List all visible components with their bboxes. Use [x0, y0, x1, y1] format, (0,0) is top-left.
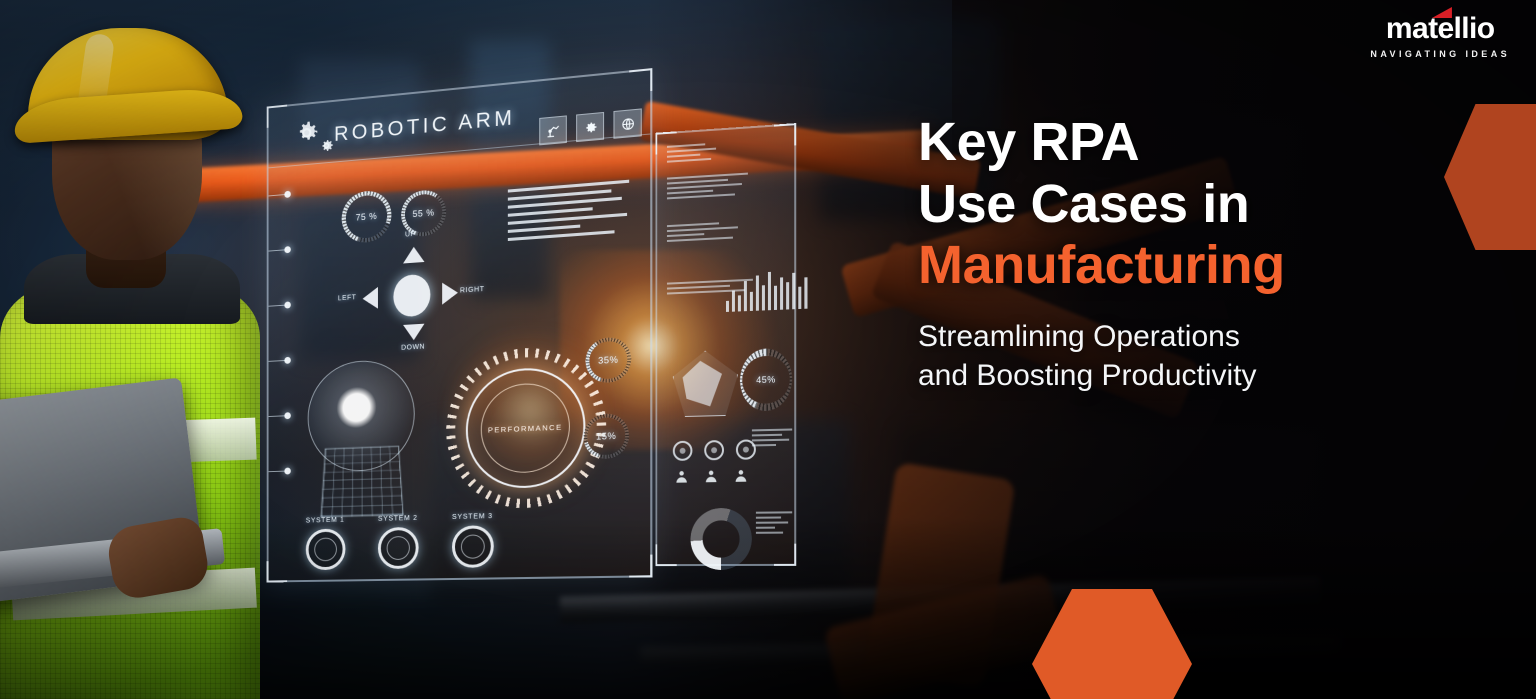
hud-tick-marks — [269, 194, 288, 527]
radar-grid — [320, 446, 403, 518]
dpad-label-down: DOWN — [401, 344, 425, 352]
panel-corner — [655, 131, 676, 154]
panel-corner — [267, 105, 287, 128]
subheadline-line-1: Streamlining Operations — [918, 317, 1478, 357]
hud-data-bars — [508, 180, 629, 246]
system-ring[interactable] — [452, 525, 494, 568]
chevron-right-icon[interactable] — [442, 282, 458, 305]
mini-ring-row — [673, 439, 756, 461]
headline-block: Key RPA Use Cases in Manufacturing Strea… — [918, 112, 1478, 396]
system-item[interactable]: SYSTEM 3 — [452, 513, 498, 568]
subheadline-line-2: and Boosting Productivity — [918, 356, 1478, 396]
chevron-up-icon[interactable] — [403, 246, 424, 263]
panel-corner — [267, 561, 287, 583]
gauge-value: 15% — [583, 413, 629, 460]
gauge-15: 15% — [583, 413, 629, 460]
dpad-center-button[interactable] — [393, 274, 430, 318]
headline-line-3-accent: Manufacturing — [918, 235, 1478, 297]
system-ring[interactable] — [306, 528, 346, 570]
panel-corner — [774, 123, 796, 147]
gauge-45: 45% — [740, 348, 792, 412]
gauge-35: 35% — [585, 336, 631, 384]
factory-worker — [0, 22, 290, 699]
dpad-label-right: RIGHT — [460, 286, 485, 295]
subheadline: Streamlining Operations and Boosting Pro… — [918, 317, 1478, 396]
performance-dial[interactable]: PERFORMANCE — [466, 365, 586, 489]
gauge-value: 45% — [740, 348, 792, 412]
mini-ring — [673, 441, 693, 461]
logo-wordmark: matellio — [1386, 14, 1495, 44]
robot-arm-icon[interactable] — [539, 115, 567, 145]
system-item[interactable]: SYSTEM 1 — [306, 517, 349, 571]
panel-corner — [629, 555, 652, 578]
chevron-down-icon[interactable] — [403, 324, 424, 341]
gauge-75: 75 % — [342, 189, 392, 244]
donut-chart — [690, 508, 751, 570]
bar-chart — [726, 246, 807, 312]
chevron-left-icon[interactable] — [363, 287, 378, 310]
hud-text-block — [667, 172, 752, 202]
performance-dial-label: PERFORMANCE — [468, 368, 583, 488]
people-icon-row — [673, 468, 750, 485]
dpad-label-left: LEFT — [338, 294, 357, 302]
gauge-value: 35% — [585, 336, 631, 384]
hud-text-block — [667, 221, 746, 245]
banner-root: ROBOTIC ARM — [0, 0, 1536, 699]
panel-corner — [629, 68, 652, 93]
brand-logo[interactable]: matellio NAVIGATING IDEAS — [1370, 14, 1510, 59]
panel-corner — [655, 544, 676, 566]
mini-ring — [704, 440, 724, 460]
headline-line-1: Key RPA — [918, 112, 1478, 174]
logo-tagline: NAVIGATING IDEAS — [1370, 49, 1510, 59]
direction-pad[interactable]: UP DOWN LEFT RIGHT — [355, 237, 464, 353]
page-title: Key RPA Use Cases in Manufacturing — [918, 112, 1478, 297]
headline-line-2: Use Cases in — [918, 174, 1478, 236]
dpad-label-up: UP — [405, 231, 416, 239]
people-icon — [702, 468, 720, 484]
hud-robotic-arm-panel[interactable]: ROBOTIC ARM — [267, 68, 653, 582]
gear-icon[interactable] — [576, 112, 604, 142]
system-row: SYSTEM 1 SYSTEM 2 SYSTEM 3 — [306, 513, 498, 570]
people-icon — [673, 469, 691, 485]
gauge-value: 75 % — [342, 189, 392, 244]
people-icon — [732, 468, 750, 484]
system-ring[interactable] — [378, 527, 419, 569]
hud-text-block — [756, 511, 792, 536]
hud-analytics-panel[interactable]: 45% — [655, 123, 796, 566]
globe-icon[interactable] — [613, 108, 641, 138]
hud-text-block — [752, 428, 792, 449]
system-label: SYSTEM 3 — [452, 513, 498, 521]
panel-corner — [774, 544, 796, 566]
system-label: SYSTEM 1 — [306, 517, 349, 525]
system-label: SYSTEM 2 — [378, 515, 423, 523]
system-item[interactable]: SYSTEM 2 — [378, 515, 423, 569]
